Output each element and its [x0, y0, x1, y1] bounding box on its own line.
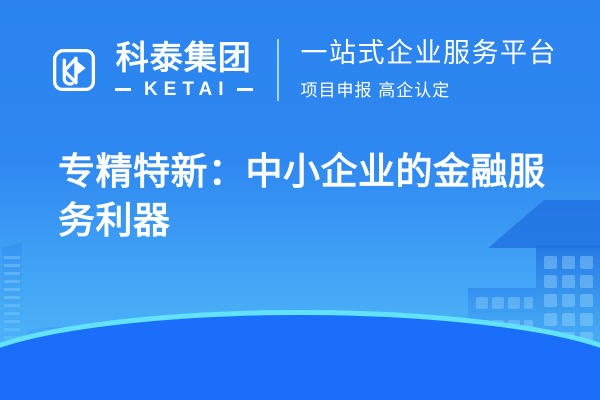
- brand-name-en: KETAI: [138, 80, 230, 99]
- brand-name-cn: 科泰集团: [116, 41, 252, 74]
- dash-right-icon: [237, 88, 253, 91]
- tagline-sub: 项目申报 高企认定: [301, 76, 558, 101]
- brand-lockup: 科泰集团 KETAI: [43, 39, 253, 101]
- brand-text-block: 科泰集团 KETAI: [115, 41, 253, 99]
- tagline-main: 一站式企业服务平台: [301, 39, 558, 69]
- promo-banner: 科泰集团 KETAI 一站式企业服务平台 项目申报 高企认定 专精特新：中小企业…: [0, 0, 600, 400]
- bottom-arc-band: [0, 310, 600, 400]
- arc-solid-fill: [0, 315, 600, 400]
- ketai-diamond-monogram-logo: [43, 39, 105, 101]
- dash-left-icon: [115, 88, 131, 91]
- tagline-block: 一站式企业服务平台 项目申报 高企认定: [301, 39, 558, 102]
- header-divider: [277, 39, 279, 101]
- banner-header: 科泰集团 KETAI 一站式企业服务平台 项目申报 高企认定: [0, 28, 600, 112]
- banner-headline: 专精特新：中小企业的金融服务利器: [58, 148, 558, 246]
- brand-name-en-row: KETAI: [115, 80, 253, 99]
